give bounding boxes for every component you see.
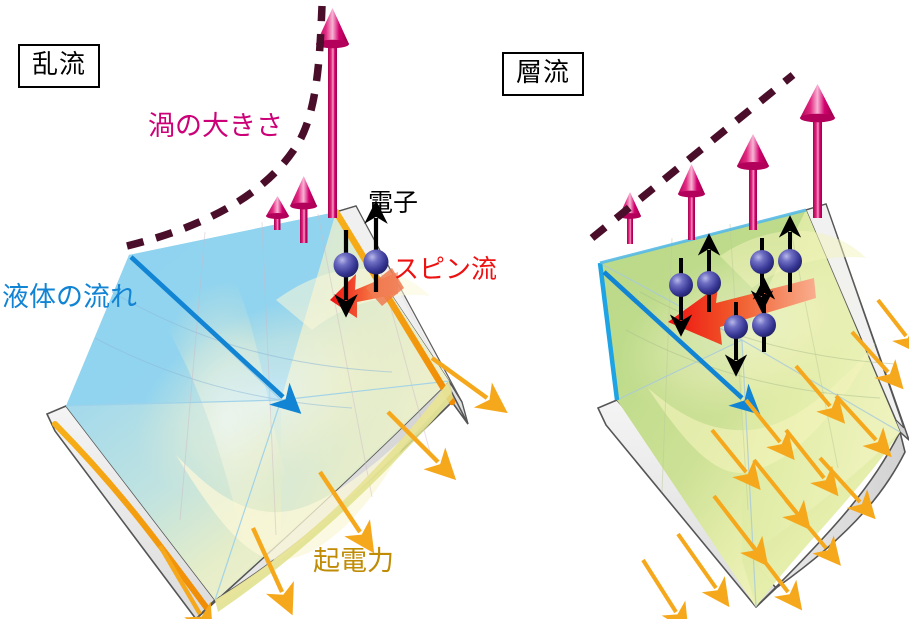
eddy-arrow-r3: [737, 134, 769, 230]
label-spin-current: スピン流: [393, 257, 497, 283]
liquid-surface-right: [594, 210, 900, 607]
panel-title-turbulent: 乱流: [18, 44, 100, 88]
label-liquid-flow: 液体の流れ: [2, 284, 137, 311]
eddy-arrow-r2: [678, 164, 705, 240]
panel-title-laminar-text: 層流: [516, 58, 570, 88]
label-emf: 起電力: [313, 548, 394, 575]
eddy-arrow-r4: [800, 84, 835, 218]
panel-title-turbulent-text: 乱流: [32, 50, 86, 80]
label-eddy-size: 渦の大きさ: [148, 113, 283, 140]
figure-canvas: 乱流 層流 渦の大きさ 液体の流れ 電子 スピン流 起電力: [0, 0, 909, 619]
label-electron: 電子: [368, 190, 418, 215]
panel-title-laminar: 層流: [502, 52, 584, 96]
panel-laminar: [592, 75, 909, 612]
